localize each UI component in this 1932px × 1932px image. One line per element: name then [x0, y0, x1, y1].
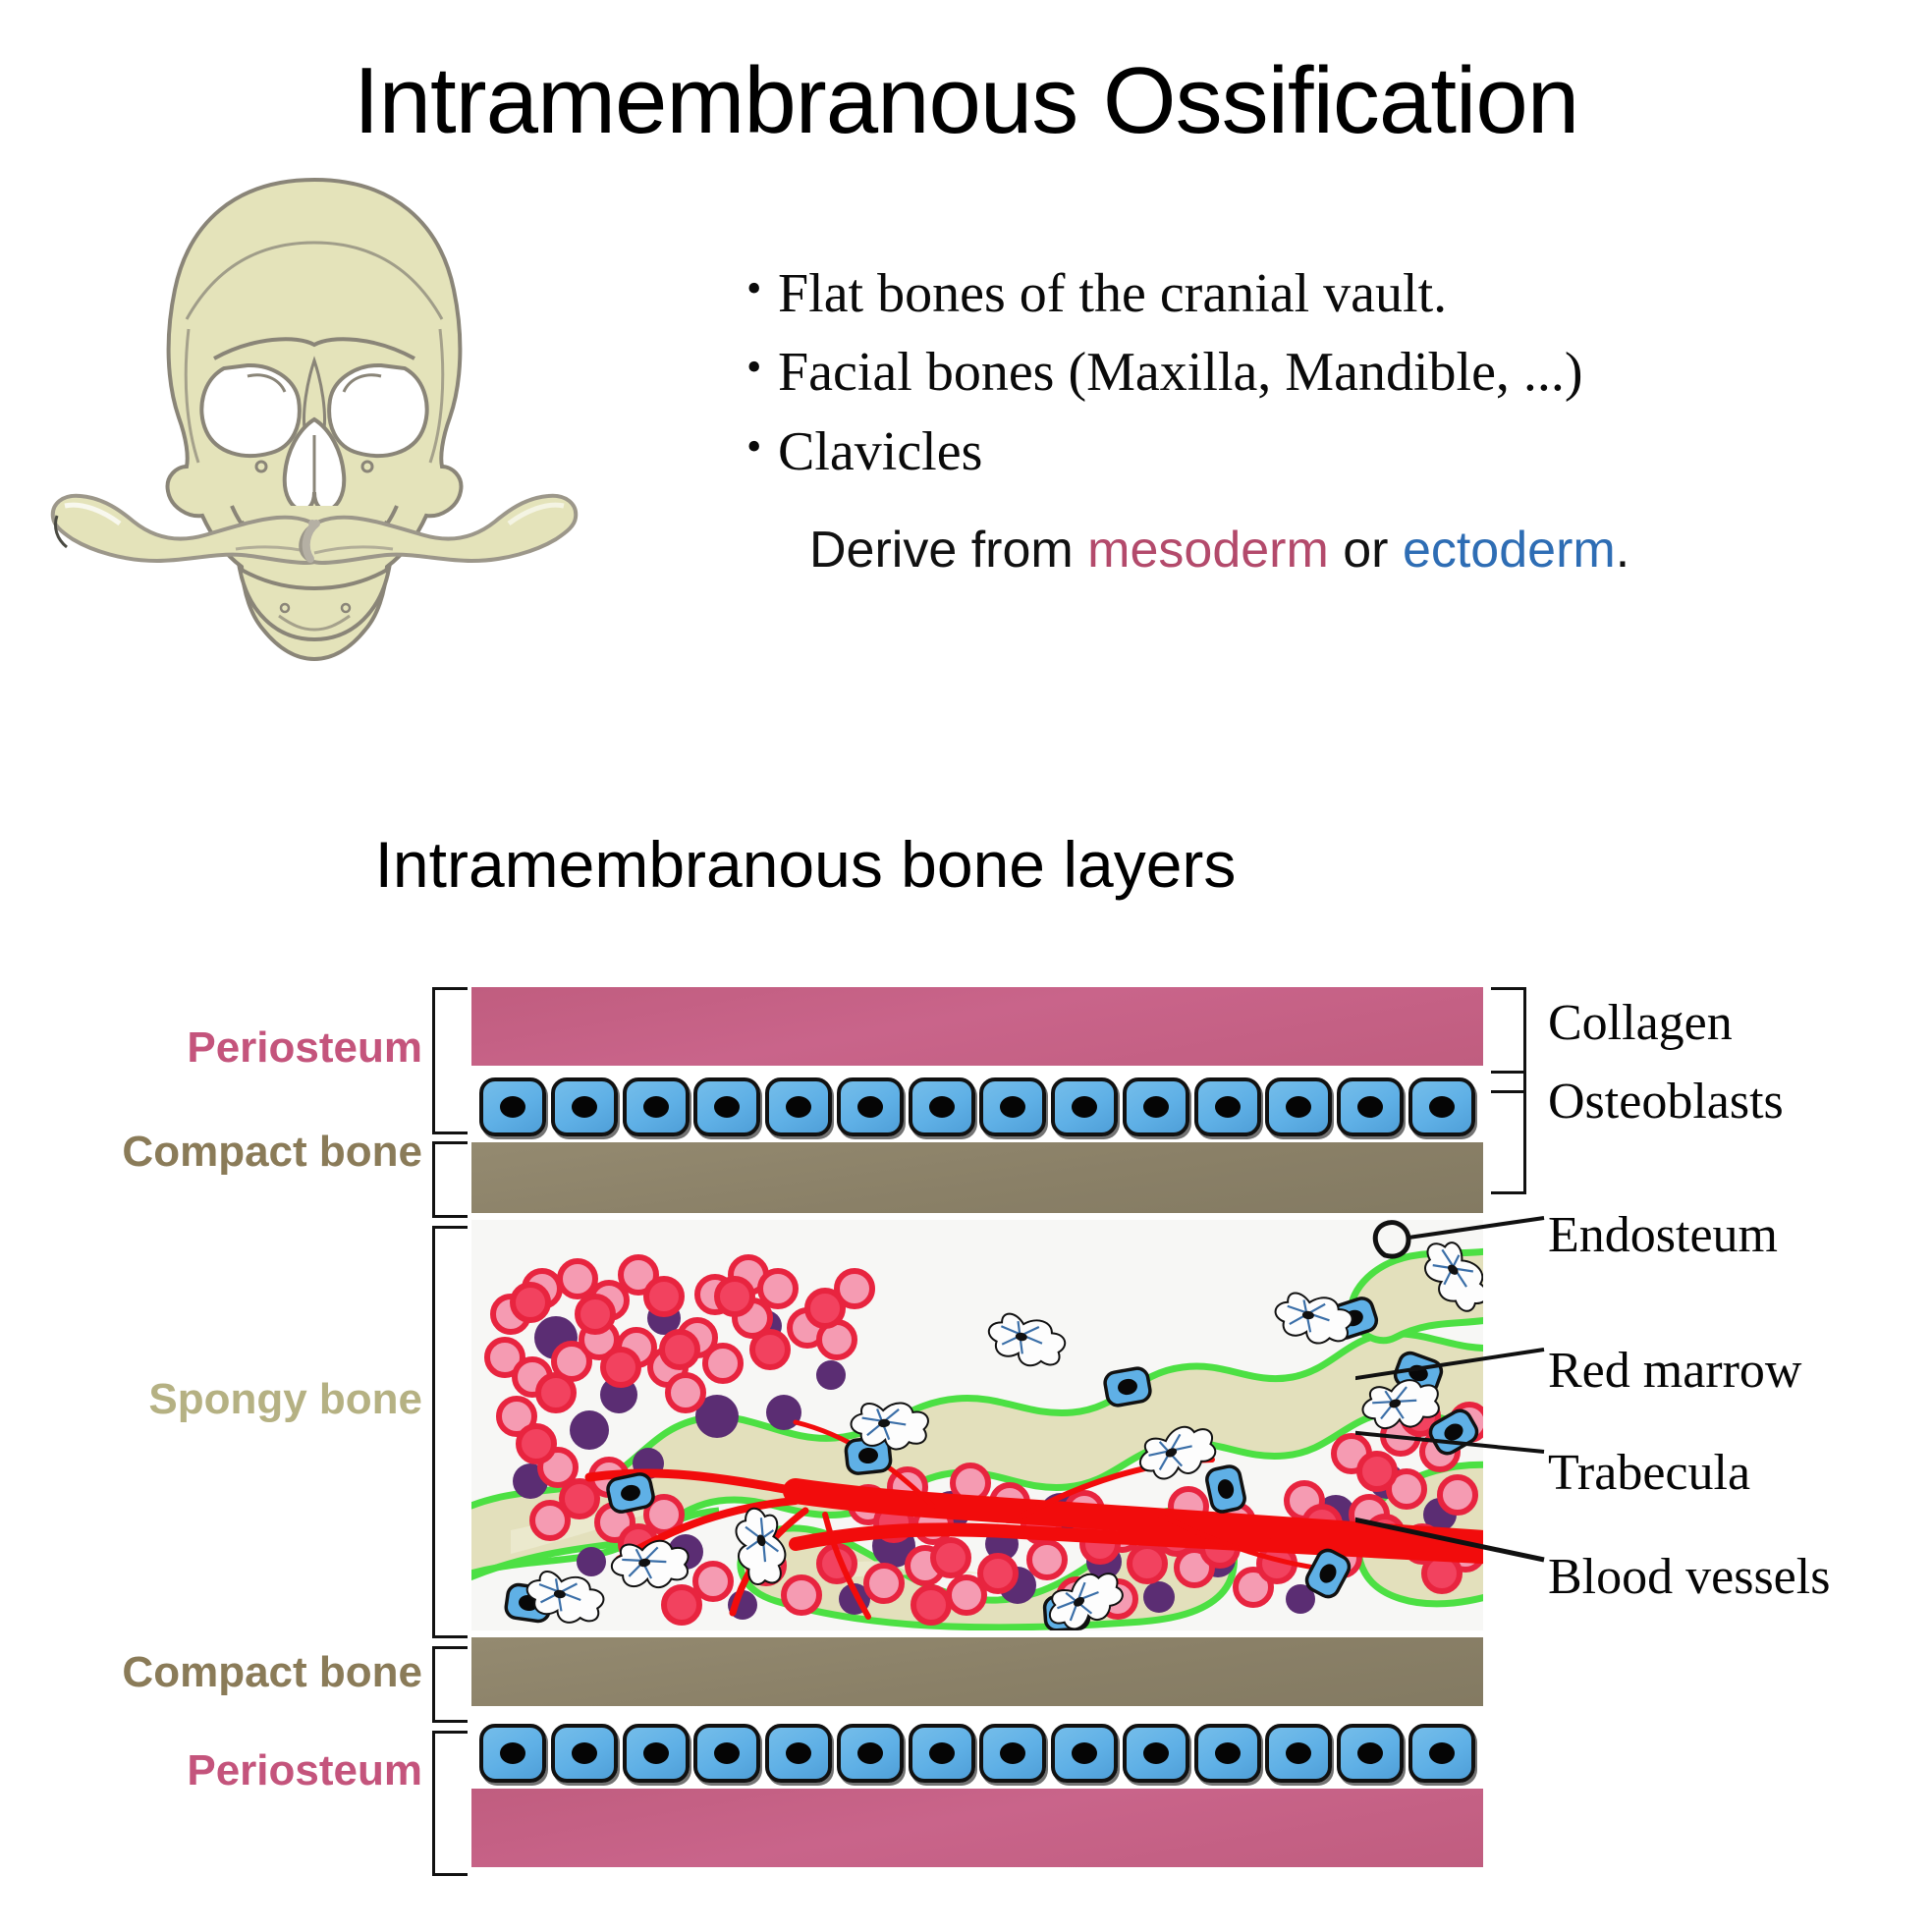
osteoblast-cell-icon — [765, 1724, 832, 1783]
osteoblast-cell-icon — [1408, 1724, 1475, 1783]
osteoblast-cell-icon — [693, 1077, 760, 1136]
label-compact-bone-top: Compact bone — [0, 1128, 422, 1177]
osteoblast-cell-icon — [979, 1077, 1046, 1136]
compact-bone-band-top — [471, 1142, 1483, 1213]
compact-bone-band-bottom — [471, 1637, 1483, 1706]
bullet-dot-icon: • — [746, 336, 778, 399]
osteoblast-cell-icon — [1123, 1077, 1189, 1136]
derive-from-note: Derive from mesoderm or ectoderm. — [809, 521, 1629, 580]
bullet-dot-icon: • — [746, 257, 778, 320]
osteoblast-cell-icon — [1051, 1077, 1118, 1136]
label-blood-vessels: Blood vessels — [1548, 1548, 1830, 1606]
osteoblast-cell-icon — [1337, 1077, 1404, 1136]
spongy-bone-art — [471, 1220, 1483, 1630]
bracket-osteoblasts — [1491, 1071, 1526, 1194]
skeleton-illustration — [39, 172, 589, 692]
osteoblast-cell-icon — [551, 1724, 618, 1783]
label-osteoblasts: Osteoblasts — [1548, 1073, 1784, 1131]
osteoblast-cell-icon — [1265, 1724, 1332, 1783]
bracket-spongy — [432, 1226, 468, 1638]
ectoderm-text: ectoderm — [1403, 522, 1616, 579]
osteoblast-cell-icon — [979, 1724, 1046, 1783]
label-spongy-bone: Spongy bone — [0, 1375, 422, 1424]
osteoblast-cell-icon — [909, 1724, 975, 1783]
osteoblast-cell-icon — [1265, 1077, 1332, 1136]
list-item: • Facial bones (Maxilla, Mandible, ...) — [746, 336, 1689, 409]
osteoblast-cell-icon — [909, 1077, 975, 1136]
collagen-band-top — [471, 987, 1483, 1066]
bone-layer-diagram — [471, 977, 1483, 1842]
osteoblast-cell-icon — [1408, 1077, 1475, 1136]
list-item-label: Flat bones of the cranial vault. — [778, 257, 1447, 330]
list-item-label: Clavicles — [778, 415, 982, 488]
bracket-compact-bottom — [432, 1646, 468, 1723]
osteoblast-cell-icon — [1051, 1724, 1118, 1783]
osteoblast-cell-icon — [623, 1724, 690, 1783]
osteoblast-cell-icon — [1123, 1724, 1189, 1783]
osteoblast-row-bottom — [471, 1724, 1483, 1783]
osteoblast-cell-icon — [479, 1077, 546, 1136]
osteoblast-cell-icon — [837, 1077, 904, 1136]
derive-middle: or — [1329, 522, 1403, 579]
osteoblast-cell-icon — [1194, 1724, 1261, 1783]
osteoblast-cell-icon — [837, 1724, 904, 1783]
osteoblast-cell-icon — [1337, 1724, 1404, 1783]
osteoblast-cell-icon — [693, 1724, 760, 1783]
derive-suffix: . — [1616, 522, 1629, 579]
list-item: • Clavicles — [746, 415, 1689, 488]
bracket-periosteum-bottom — [432, 1731, 468, 1876]
osteoblast-row-top — [471, 1077, 1483, 1136]
mesoderm-text: mesoderm — [1087, 522, 1329, 579]
osteoblast-cell-icon — [551, 1077, 618, 1136]
list-item-label: Facial bones (Maxilla, Mandible, ...) — [778, 336, 1583, 409]
label-periosteum-top: Periosteum — [0, 1023, 422, 1073]
bracket-compact-top — [432, 1141, 468, 1218]
bullet-dot-icon: • — [746, 415, 778, 478]
collagen-band-bottom — [471, 1789, 1483, 1867]
bullet-list: • Flat bones of the cranial vault. • Fac… — [746, 257, 1689, 494]
osteoblast-cell-icon — [479, 1724, 546, 1783]
page-title: Intramembranous Ossification — [0, 47, 1932, 155]
skull-front-icon — [168, 180, 462, 659]
label-periosteum-bottom: Periosteum — [0, 1746, 422, 1795]
derive-prefix: Derive from — [809, 522, 1087, 579]
osteoblast-cell-icon — [623, 1077, 690, 1136]
label-trabecula: Trabecula — [1548, 1444, 1750, 1502]
leader-lines — [1355, 1208, 1572, 1621]
list-item: • Flat bones of the cranial vault. — [746, 257, 1689, 330]
hook-endosteum-icon — [1375, 1223, 1408, 1256]
label-endosteum: Endosteum — [1548, 1206, 1778, 1264]
label-collagen: Collagen — [1548, 994, 1733, 1052]
spongy-bone-region — [471, 1220, 1483, 1630]
diagram-page: Intramembranous Ossification — [0, 0, 1932, 1932]
section-title: Intramembranous bone layers — [0, 827, 1611, 902]
label-red-marrow: Red marrow — [1548, 1342, 1801, 1400]
osteoblast-cell-icon — [1194, 1077, 1261, 1136]
osteoblast-cell-icon — [765, 1077, 832, 1136]
bracket-periosteum-top — [432, 987, 468, 1134]
label-compact-bone-bottom: Compact bone — [0, 1648, 422, 1697]
